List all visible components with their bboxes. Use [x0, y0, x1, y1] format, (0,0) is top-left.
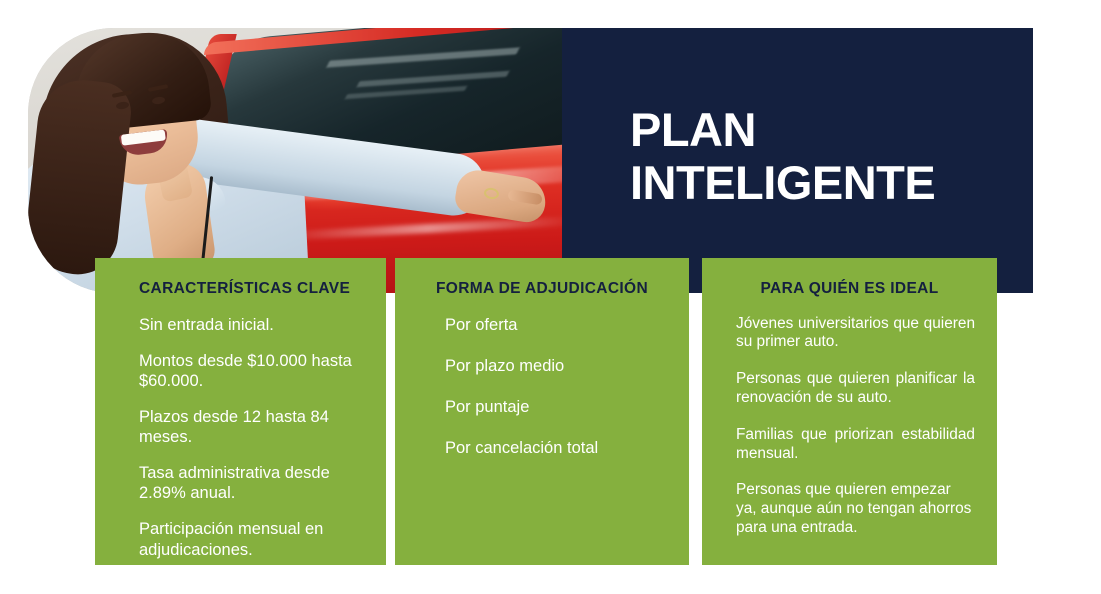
card-item-list: Jóvenes universitarios que quieren su pr… [720, 315, 979, 538]
card-forma-de-adjudicacion: FORMA DE ADJUDICACIÓN Por oferta Por pla… [395, 258, 689, 565]
list-item: Personas que quieren planificar la renov… [720, 370, 979, 408]
slide-canvas: PLAN INTELIGENTE CARACTERÍSTICAS CLAVE S… [0, 0, 1101, 594]
list-item: Personas que quieren empezar ya, aunque … [720, 481, 979, 537]
card-item-list: Sin entrada inicial. Montos desde $10.00… [117, 315, 364, 560]
list-item: Tasa administrativa desde 2.89% anual. [117, 463, 364, 503]
card-title: FORMA DE ADJUDICACIÓN [415, 280, 669, 299]
list-item: Montos desde $10.000 hasta $60.000. [117, 351, 364, 391]
card-item-list: Por oferta Por plazo medio Por puntaje P… [415, 315, 669, 459]
list-item: Por cancelación total [415, 438, 669, 458]
card-title: PARA QUIÉN ES IDEAL [720, 280, 979, 299]
list-item: Plazos desde 12 hasta 84 meses. [117, 407, 364, 447]
list-item: Por puntaje [415, 397, 669, 417]
list-item: Familias que priorizan estabilidad mensu… [720, 426, 979, 464]
card-para-quien-es-ideal: PARA QUIÉN ES IDEAL Jóvenes universitari… [702, 258, 997, 565]
card-title: CARACTERÍSTICAS CLAVE [117, 280, 364, 299]
list-item: Sin entrada inicial. [117, 315, 364, 335]
card-caracteristicas-clave: CARACTERÍSTICAS CLAVE Sin entrada inicia… [95, 258, 386, 565]
list-item: Por plazo medio [415, 356, 669, 376]
list-item: Por oferta [415, 315, 669, 335]
page-title: PLAN INTELIGENTE [630, 104, 935, 209]
title-panel: PLAN INTELIGENTE [562, 28, 1033, 293]
feature-cards: CARACTERÍSTICAS CLAVE Sin entrada inicia… [0, 258, 1101, 566]
hero-photo [28, 28, 562, 293]
list-item: Jóvenes universitarios que quieren su pr… [720, 315, 979, 353]
list-item: Participación mensual en adjudicaciones. [117, 519, 364, 559]
